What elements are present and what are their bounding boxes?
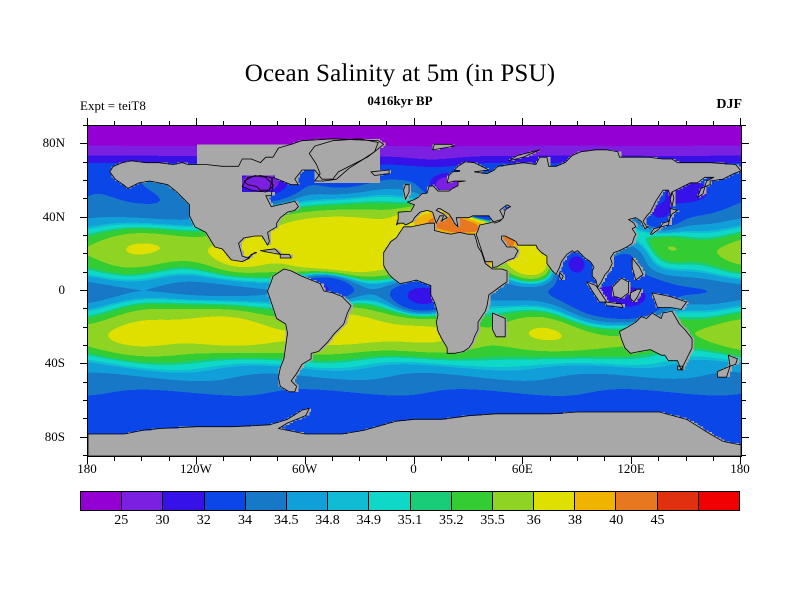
xtick-bottom-75: [550, 456, 551, 461]
ytick-right--20: [741, 327, 746, 328]
colorbar-band-15: [698, 492, 739, 510]
ytick-right-90: [741, 125, 746, 126]
xtick-top--105: [223, 121, 224, 126]
season-label: DJF: [716, 97, 742, 113]
ytick-left-40: [80, 217, 88, 218]
xtick-top-0: [414, 118, 415, 126]
xtick-top-105: [604, 121, 605, 126]
xtick-bottom--75: [277, 456, 278, 461]
colorbar-label-38: 38: [568, 513, 582, 529]
xtick-top--60: [305, 118, 306, 126]
ytick-right-40: [741, 217, 749, 218]
yaxis-label-40S: 40S: [45, 355, 65, 371]
colorbar-label-45: 45: [651, 513, 665, 529]
ytick-right-80: [741, 143, 749, 144]
colorbar-label-40: 40: [609, 513, 623, 529]
xtick-bottom--135: [169, 456, 170, 461]
xaxis-label-60E: 60E: [512, 461, 533, 477]
xtick-bottom-90: [577, 456, 578, 461]
ytick-right--70: [741, 418, 746, 419]
colorbar-label-34.8: 34.8: [315, 513, 340, 529]
ytick-right-70: [741, 162, 746, 163]
xaxis-label-120E: 120E: [617, 461, 644, 477]
xtick-bottom--30: [359, 456, 360, 461]
ytick-left-60: [83, 180, 88, 181]
colorbar-band-3: [204, 492, 245, 510]
xtick-top--90: [250, 121, 251, 126]
xtick-top--120: [196, 118, 197, 126]
ytick-left--50: [83, 382, 88, 383]
yaxis-label-80N: 80N: [43, 135, 65, 151]
xtick-bottom--90: [250, 456, 251, 461]
xtick-bottom-165: [713, 456, 714, 461]
xtick-top-15: [441, 121, 442, 126]
ytick-right--10: [741, 308, 746, 309]
yaxis-label-80S: 80S: [45, 429, 65, 445]
page-title: Ocean Salinity at 5m (in PSU): [0, 60, 800, 88]
colorbar: [80, 491, 740, 511]
ytick-left--10: [83, 308, 88, 309]
xtick-bottom--105: [223, 456, 224, 461]
xtick-top--30: [359, 121, 360, 126]
xtick-top-60: [522, 118, 523, 126]
colorbar-band-2: [162, 492, 203, 510]
ytick-left--20: [83, 327, 88, 328]
ytick-left--70: [83, 418, 88, 419]
colorbar-band-6: [327, 492, 368, 510]
salinity-figure: Ocean Salinity at 5m (in PSU) 0416kyr BP…: [0, 0, 800, 600]
colorbar-band-12: [574, 492, 615, 510]
xtick-top--165: [114, 121, 115, 126]
xtick-top-120: [631, 118, 632, 126]
colorbar-band-9: [451, 492, 492, 510]
xaxis-label-180: 180: [730, 461, 750, 477]
xaxis-label-180: 180: [77, 461, 97, 477]
ytick-right--80: [741, 437, 749, 438]
ytick-right-0: [741, 290, 749, 291]
xtick-bottom-150: [686, 456, 687, 461]
colorbar-band-7: [368, 492, 409, 510]
ytick-right-30: [741, 235, 746, 236]
ytick-right-60: [741, 180, 746, 181]
colorbar-band-4: [245, 492, 286, 510]
colorbar-band-10: [492, 492, 533, 510]
colorbar-band-5: [286, 492, 327, 510]
xtick-top--15: [386, 121, 387, 126]
ytick-left--80: [80, 437, 88, 438]
ytick-right-10: [741, 272, 746, 273]
xtick-top--135: [169, 121, 170, 126]
ytick-left-50: [83, 198, 88, 199]
colorbar-band-11: [533, 492, 574, 510]
colorbar-label-34.5: 34.5: [274, 513, 299, 529]
ytick-left--40: [80, 363, 88, 364]
xtick-bottom--150: [141, 456, 142, 461]
colorbar-label-25: 25: [114, 513, 128, 529]
xtick-top-90: [577, 121, 578, 126]
xtick-top--45: [332, 121, 333, 126]
xtick-top-150: [686, 121, 687, 126]
xtick-bottom-45: [495, 456, 496, 461]
ytick-left-30: [83, 235, 88, 236]
ytick-left-80: [80, 143, 88, 144]
ytick-left-70: [83, 162, 88, 163]
ytick-left-0: [80, 290, 88, 291]
xtick-bottom-135: [658, 456, 659, 461]
xtick-bottom-30: [468, 456, 469, 461]
colorbar-band-14: [657, 492, 698, 510]
colorbar-label-30: 30: [156, 513, 170, 529]
xtick-top-75: [550, 121, 551, 126]
ytick-right--50: [741, 382, 746, 383]
yaxis-label-40N: 40N: [43, 209, 65, 225]
ytick-left-10: [83, 272, 88, 273]
xaxis-label-0: 0: [410, 461, 417, 477]
ytick-right--90: [741, 455, 746, 456]
colorbar-label-36: 36: [527, 513, 541, 529]
ytick-right--60: [741, 400, 746, 401]
colorbar-label-34.9: 34.9: [357, 513, 382, 529]
ytick-right--40: [741, 363, 749, 364]
colorbar-label-35.1: 35.1: [398, 513, 423, 529]
colorbar-band-8: [410, 492, 451, 510]
xaxis-label-60W: 60W: [292, 461, 317, 477]
xtick-top-135: [658, 121, 659, 126]
map-plot-area: [87, 125, 742, 457]
xtick-bottom--165: [114, 456, 115, 461]
colorbar-label-35.5: 35.5: [480, 513, 505, 529]
xtick-top-45: [495, 121, 496, 126]
ytick-left--30: [83, 345, 88, 346]
xtick-bottom--15: [386, 456, 387, 461]
experiment-label: Expt = teiT8: [80, 98, 146, 114]
colorbar-label-34: 34: [238, 513, 252, 529]
yaxis-label-0: 0: [59, 282, 66, 298]
colorbar-label-32: 32: [197, 513, 211, 529]
xtick-bottom-105: [604, 456, 605, 461]
xtick-bottom--45: [332, 456, 333, 461]
xaxis-label-120W: 120W: [180, 461, 212, 477]
xtick-top--150: [141, 121, 142, 126]
ytick-left-90: [83, 125, 88, 126]
ytick-left--90: [83, 455, 88, 456]
ytick-left-20: [83, 253, 88, 254]
ytick-left--60: [83, 400, 88, 401]
colorbar-band-13: [615, 492, 656, 510]
xtick-bottom-15: [441, 456, 442, 461]
colorbar-band-1: [121, 492, 162, 510]
xtick-top-165: [713, 121, 714, 126]
colorbar-band-0: [81, 492, 121, 510]
ytick-right--30: [741, 345, 746, 346]
colorbar-label-35.2: 35.2: [439, 513, 464, 529]
xtick-top-30: [468, 121, 469, 126]
xtick-top--75: [277, 121, 278, 126]
ytick-right-50: [741, 198, 746, 199]
salinity-map-canvas: [88, 126, 741, 456]
ytick-right-20: [741, 253, 746, 254]
